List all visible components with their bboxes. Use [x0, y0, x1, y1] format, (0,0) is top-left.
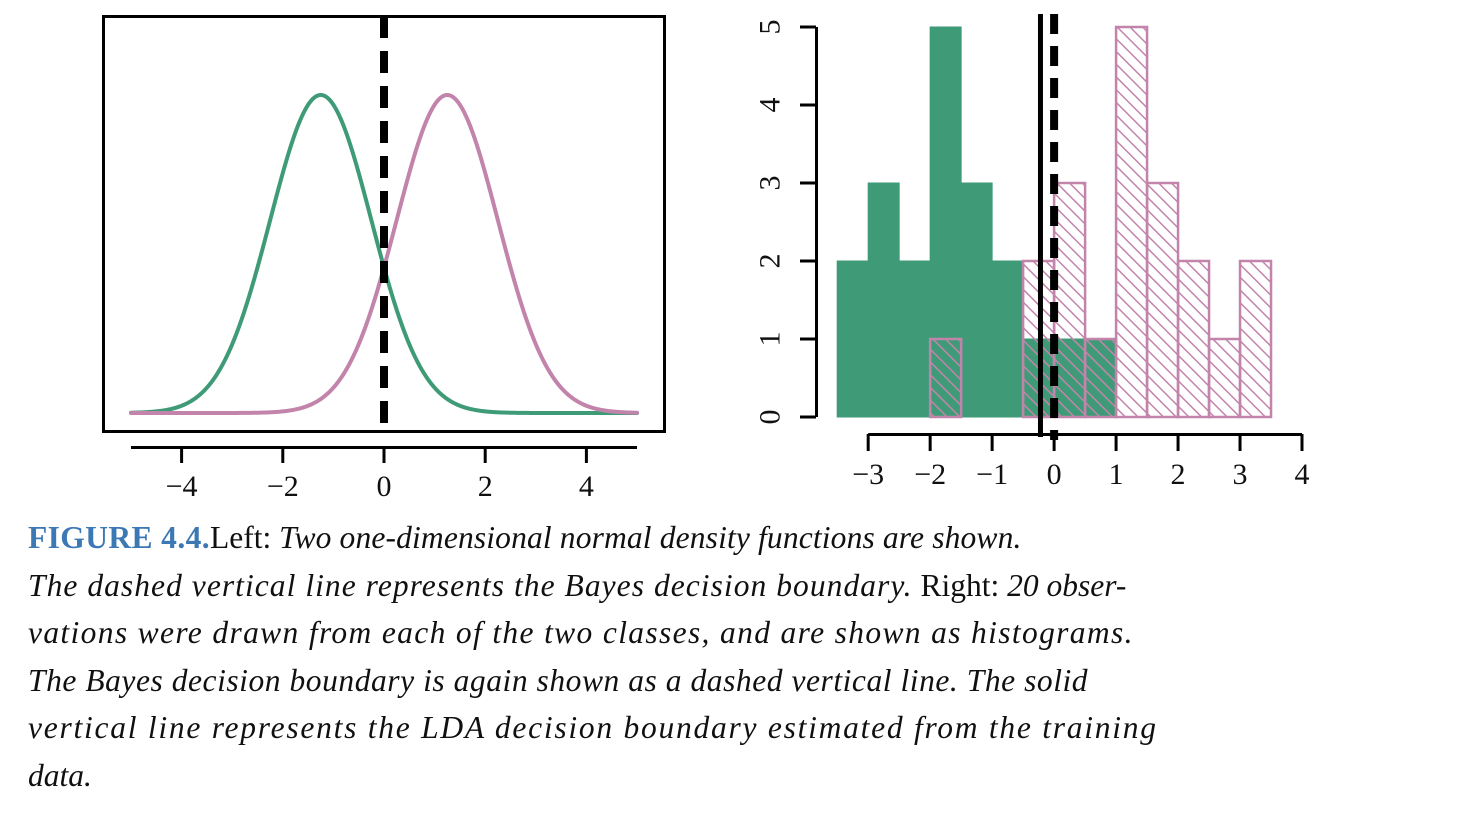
caption-line-5-italic: vertical line represents the LDA decisio…: [28, 710, 1158, 745]
caption-line-5: vertical line represents the LDA decisio…: [28, 704, 1460, 752]
caption-line-1-italic: Two one-dimensional normal density funct…: [279, 520, 1021, 555]
caption-line-6: data.: [28, 752, 1460, 800]
caption-line-4: The Bayes decision boundary is again sho…: [28, 657, 1460, 705]
histogram-bar-class-2: [1178, 261, 1209, 417]
x-tick-label: −4: [166, 470, 198, 500]
x-tick-label: −2: [267, 470, 299, 500]
caption-line-2-italic-a: The dashed vertical line represents the …: [28, 568, 913, 603]
y-tick-label: 4: [754, 98, 787, 113]
histogram-bar-class-1: [837, 261, 868, 417]
left-x-axis: −4−2024: [131, 447, 637, 500]
y-tick-label: 5: [754, 20, 787, 35]
x-tick-label: −2: [914, 458, 946, 491]
x-tick-label: 0: [377, 470, 392, 500]
x-tick-label: 4: [1295, 458, 1310, 491]
right-y-axis-ticks: [800, 27, 816, 417]
histogram-bar-class-1: [868, 183, 899, 417]
figure-caption: Left: FIGURE 4.4.Left: Two one-dimension…: [28, 514, 1460, 799]
x-tick-label: 3: [1233, 458, 1248, 491]
histogram-bar-class-1: [961, 183, 992, 417]
right-histogram-panel: 012345 −3−2−101234: [720, 0, 1482, 500]
x-tick-label: −1: [976, 458, 1008, 491]
right-x-axis: −3−2−101234: [852, 434, 1309, 491]
histogram-bar-class-2: [1209, 339, 1240, 417]
left-x-axis-ticks: [182, 447, 587, 463]
histogram-bar-class-2: [1147, 183, 1178, 417]
histogram-bar-class-2: [1085, 339, 1116, 417]
left-density-panel: −4−2024: [0, 0, 720, 500]
histogram-bar-class-2: [930, 339, 961, 417]
x-tick-label: 2: [1171, 458, 1186, 491]
caption-line-3: vations were drawn from each of the two …: [28, 609, 1460, 657]
x-tick-label: 2: [478, 470, 493, 500]
caption-line-2: The dashed vertical line represents the …: [28, 562, 1460, 610]
right-y-axis: 012345: [754, 20, 817, 425]
y-tick-label: 3: [754, 176, 787, 191]
caption-line-3-italic: vations were drawn from each of the two …: [28, 615, 1134, 650]
right-x-axis-ticks: [868, 434, 1302, 451]
y-tick-label: 1: [754, 332, 787, 347]
caption-right-keyword: Right:: [920, 568, 999, 603]
caption-line-2-italic-b: 20 obser-: [1007, 568, 1126, 603]
histogram-bar-class-2: [1116, 27, 1147, 417]
y-tick-label: 0: [754, 410, 787, 425]
left-density-svg: −4−2024: [0, 0, 720, 500]
caption-left-keyword: Left:: [210, 520, 271, 555]
x-tick-label: 0: [1047, 458, 1062, 491]
right-y-axis-tick-labels: 012345: [754, 20, 787, 425]
histogram-bar-class-1: [992, 261, 1023, 417]
caption-line-1: Left: FIGURE 4.4.Left: Two one-dimension…: [28, 514, 1460, 562]
x-tick-label: −3: [852, 458, 884, 491]
histogram-bar-class-2: [1240, 261, 1271, 417]
x-tick-label: 1: [1109, 458, 1124, 491]
left-x-axis-tick-labels: −4−2024: [166, 470, 594, 500]
right-histogram-svg: 012345 −3−2−101234: [720, 0, 1482, 500]
right-x-axis-tick-labels: −3−2−101234: [852, 458, 1309, 491]
caption-line-6-italic: data.: [28, 758, 92, 793]
figure-label: FIGURE 4.4.: [28, 520, 210, 555]
histogram-bar-class-1: [899, 261, 930, 417]
figure-4-4: −4−2024 012345: [0, 0, 1482, 816]
y-tick-label: 2: [754, 254, 787, 269]
histogram-bar-class-2: [1054, 183, 1085, 417]
caption-line-4-italic: The Bayes decision boundary is again sho…: [28, 663, 1088, 698]
x-tick-label: 4: [579, 470, 594, 500]
